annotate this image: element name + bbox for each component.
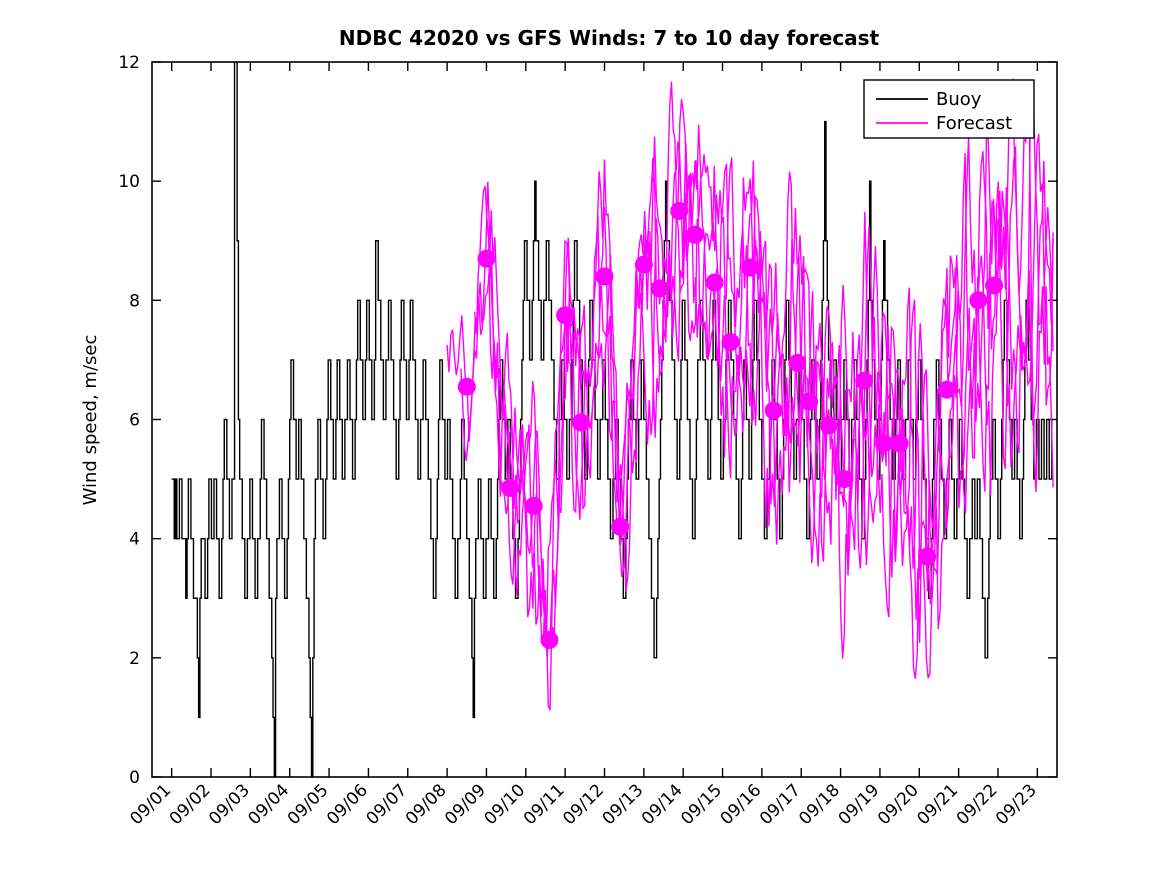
forecast-marker-dot [918,548,936,566]
forecast-marker-dot [501,479,519,497]
chart-title: NDBC 42020 vs GFS Winds: 7 to 10 day for… [339,26,880,50]
forecast-marker-dot [477,250,495,268]
y-axis-label: Wind speed, m/sec [80,335,101,506]
y-tick-label: 2 [129,649,140,669]
forecast-marker-dot [686,226,704,244]
wind-speed-chart: NDBC 42020 vs GFS Winds: 7 to 10 day for… [0,0,1167,875]
y-tick-label: 10 [118,172,140,192]
forecast-marker-dot [788,354,806,372]
forecast-marker-dot [891,434,909,452]
forecast-marker-dot [800,393,818,411]
legend-label-forecast: Forecast [936,113,1012,134]
y-tick-label: 8 [129,291,140,311]
legend-label-buoy: Buoy [936,89,982,110]
forecast-marker-dot [741,259,759,277]
y-tick-label: 6 [129,411,140,431]
forecast-marker-dot [985,276,1003,294]
forecast-marker-dot [556,306,574,324]
forecast-marker-dot [765,402,783,420]
forecast-marker-dot [572,413,590,431]
forecast-marker-dot [820,416,838,434]
forecast-marker-dot [651,279,669,297]
forecast-marker-dot [855,372,873,390]
forecast-marker-dot [458,378,476,396]
forecast-marker-dot [875,434,893,452]
forecast-marker-dot [525,497,543,515]
forecast-marker-dot [836,470,854,488]
forecast-marker-dot [938,381,956,399]
forecast-marker-dot [706,273,724,291]
forecast-marker-dot [670,202,688,220]
forecast-marker-dot [635,256,653,274]
legend-box: Buoy Forecast [864,80,1034,138]
y-tick-label: 4 [129,530,140,550]
forecast-marker-dot [721,333,739,351]
forecast-marker-dot [969,291,987,309]
forecast-marker-dot [540,631,558,649]
y-tick-label: 0 [129,768,140,788]
chart-figure: NDBC 42020 vs GFS Winds: 7 to 10 day for… [0,0,1167,875]
forecast-marker-dot [611,518,629,536]
forecast-marker-dot [596,268,614,286]
y-tick-label: 12 [118,53,140,73]
